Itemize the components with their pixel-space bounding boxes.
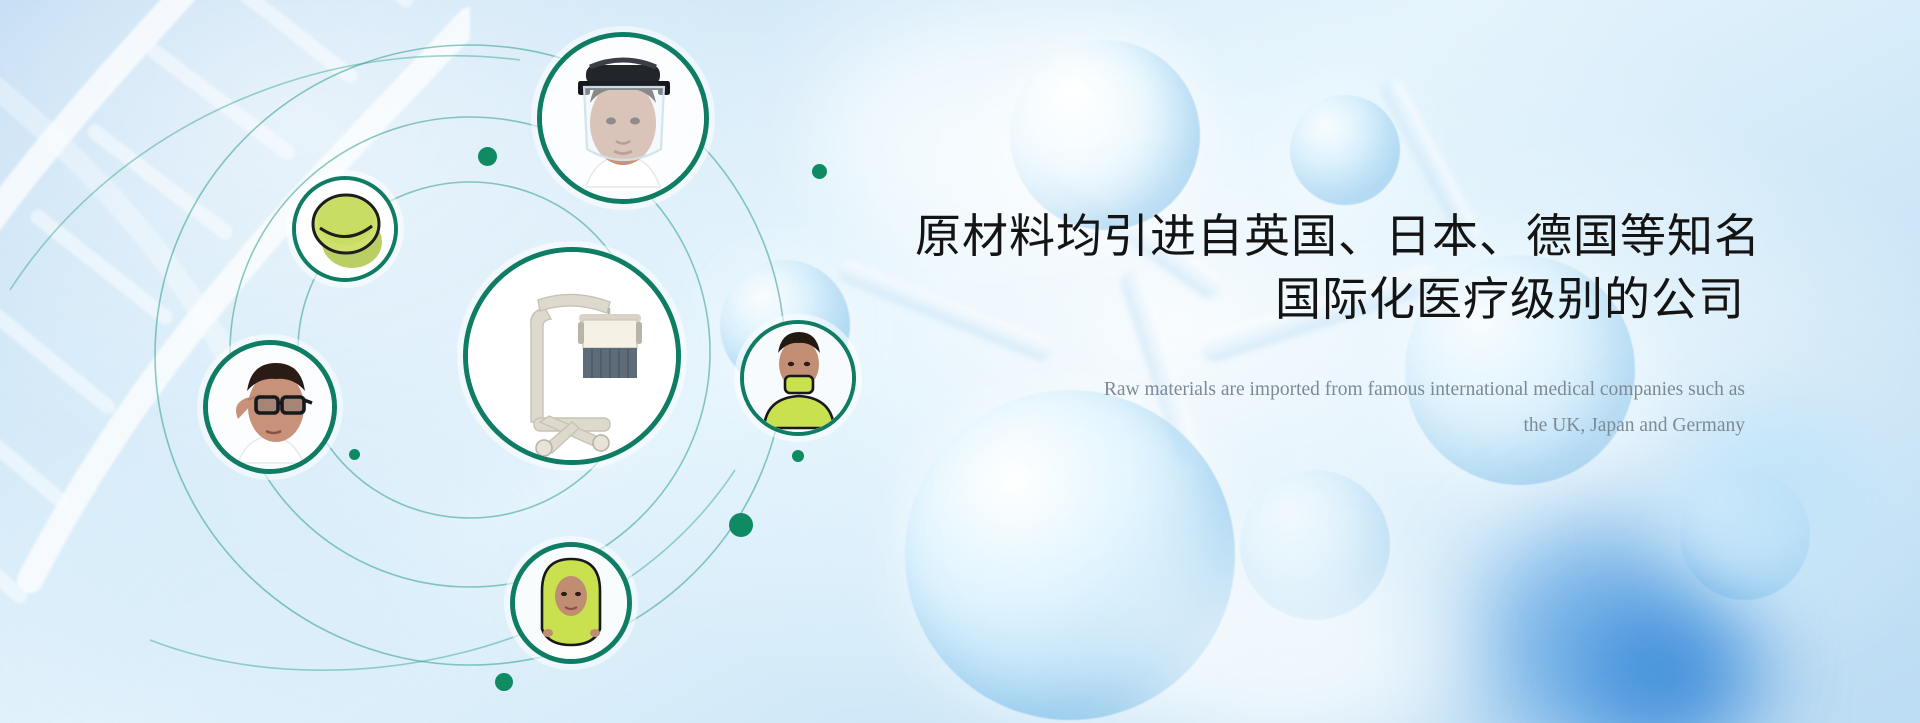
headline-line-2: 国际化医疗级别的公司 xyxy=(915,268,1745,331)
orbit-dot-3 xyxy=(349,449,360,460)
orbit-dot-1 xyxy=(478,147,497,166)
banner-copy: 原材料均引进自英国、日本、德国等知名 国际化医疗级别的公司 Raw materi… xyxy=(915,205,1745,444)
radiation-protective-cap-photo xyxy=(296,180,394,278)
radiation-protection-hood-photo xyxy=(515,547,627,659)
orbit-dot-4 xyxy=(792,450,804,462)
orbit-dot-6 xyxy=(495,673,513,691)
product-bubble-hood[interactable] xyxy=(510,542,632,664)
product-bubble-mobile-shield[interactable] xyxy=(463,247,681,465)
subtitle-line-1: Raw materials are imported from famous i… xyxy=(915,372,1745,408)
product-bubble-lead-glasses[interactable] xyxy=(203,340,337,474)
subtitle-line-2: the UK, Japan and Germany xyxy=(915,408,1745,444)
thyroid-collar-photo xyxy=(744,324,852,432)
face-shield-visor-photo xyxy=(542,37,704,199)
product-bubble-cap[interactable] xyxy=(292,176,398,282)
subtitle: Raw materials are imported from famous i… xyxy=(915,372,1745,444)
product-bubble-thyroid-collar[interactable] xyxy=(740,320,856,436)
product-bubble-face-shield[interactable] xyxy=(537,32,709,204)
orbit-dot-5 xyxy=(729,513,753,537)
mobile-radiation-shield-photo xyxy=(468,252,676,460)
headline-line-1: 原材料均引进自英国、日本、德国等知名 xyxy=(915,205,1745,268)
orbit-dot-2 xyxy=(812,164,827,179)
hero-banner: 原材料均引进自英国、日本、德国等知名 国际化医疗级别的公司 Raw materi… xyxy=(0,0,1920,723)
lead-glasses-photo xyxy=(208,345,332,469)
